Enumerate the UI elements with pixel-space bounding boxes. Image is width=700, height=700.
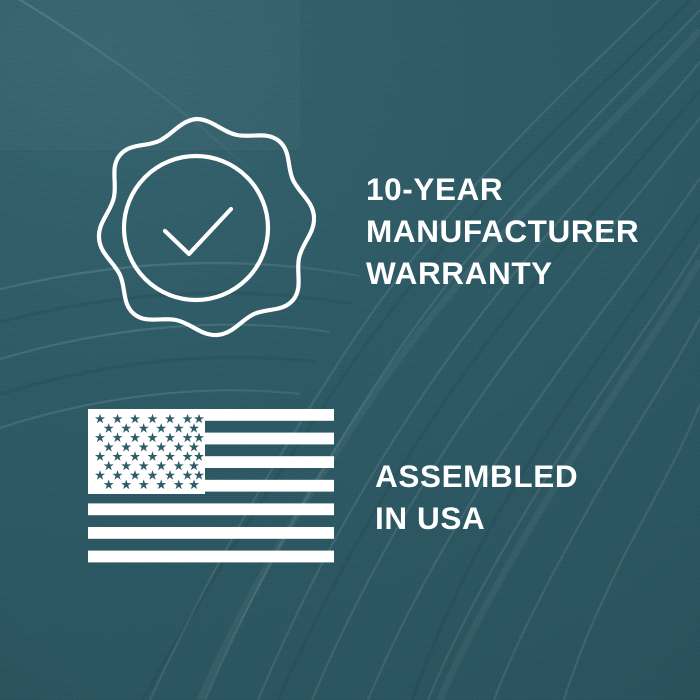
usa-text-slot: ASSEMBLED IN USA (340, 455, 700, 539)
quality-seal-check-icon (76, 110, 316, 356)
usa-headline: ASSEMBLED IN USA (375, 455, 700, 539)
warranty-line-3: WARRANTY (366, 252, 700, 294)
warranty-icon-slot (0, 96, 340, 366)
warranty-line-2: MANUFACTURER (366, 210, 700, 252)
promo-feature-panel: 10-YEAR MANUFACTURER WARRANTY (0, 0, 700, 700)
warranty-text-slot: 10-YEAR MANUFACTURER WARRANTY (340, 168, 700, 294)
warranty-feature-row: 10-YEAR MANUFACTURER WARRANTY (0, 96, 700, 366)
usa-flag-icon (88, 409, 334, 565)
assembled-in-usa-feature-row: ASSEMBLED IN USA (0, 392, 700, 602)
warranty-headline: 10-YEAR MANUFACTURER WARRANTY (366, 168, 700, 294)
warranty-line-1: 10-YEAR (366, 168, 700, 210)
usa-line-1: ASSEMBLED (375, 455, 700, 497)
usa-icon-slot (0, 392, 340, 602)
usa-line-2: IN USA (375, 497, 700, 539)
